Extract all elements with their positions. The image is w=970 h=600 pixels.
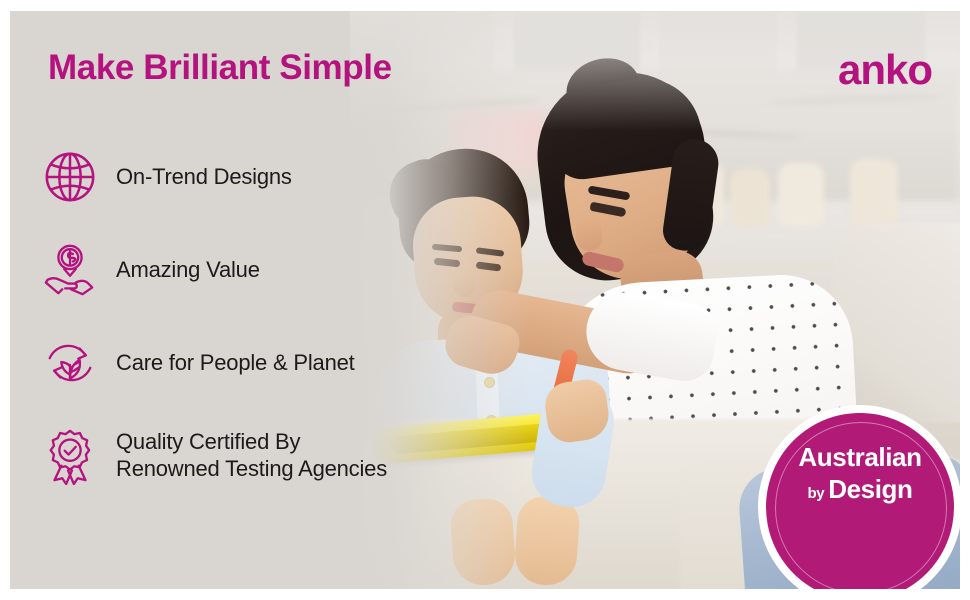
feature-list: On-Trend Designs Amazing Value — [38, 143, 458, 490]
feature-label-line1: Quality Certified By — [116, 429, 300, 454]
feature-item-amazing-value: Amazing Value — [38, 236, 458, 304]
feature-label-line2: Renowned Testing Agencies — [116, 456, 387, 481]
feature-item-care-for-people-planet: Care for People & Planet — [38, 329, 458, 397]
feature-label: Quality Certified By Renowned Testing Ag… — [116, 429, 387, 483]
badge-by-word: by — [807, 485, 824, 502]
badge-text: Australian byDesign — [766, 443, 954, 504]
globe-icon — [38, 145, 102, 209]
value-hand-coin-icon — [38, 238, 102, 302]
feature-label: Amazing Value — [116, 257, 260, 284]
badge-design-word: Design — [828, 474, 912, 504]
feature-item-on-trend-designs: On-Trend Designs — [38, 143, 458, 211]
badge-line-2: byDesign — [766, 475, 954, 505]
feature-label: Care for People & Planet — [116, 350, 355, 377]
kitchen-jar — [730, 169, 770, 227]
award-rosette-icon — [38, 424, 102, 488]
australian-by-design-badge: Australian byDesign — [752, 399, 960, 589]
feature-item-quality-certified: Quality Certified By Renowned Testing Ag… — [38, 422, 458, 490]
recycle-leaf-icon — [38, 331, 102, 395]
anko-logo: anko — [838, 49, 932, 91]
promo-banner: anko Make Brilliant Simple On-Trend Desi… — [10, 11, 960, 589]
badge-line-1: Australian — [766, 443, 954, 472]
page-title: Make Brilliant Simple — [48, 49, 392, 88]
kitchen-jar — [778, 163, 824, 227]
kitchen-jar — [850, 159, 898, 227]
feature-label: On-Trend Designs — [116, 164, 292, 191]
